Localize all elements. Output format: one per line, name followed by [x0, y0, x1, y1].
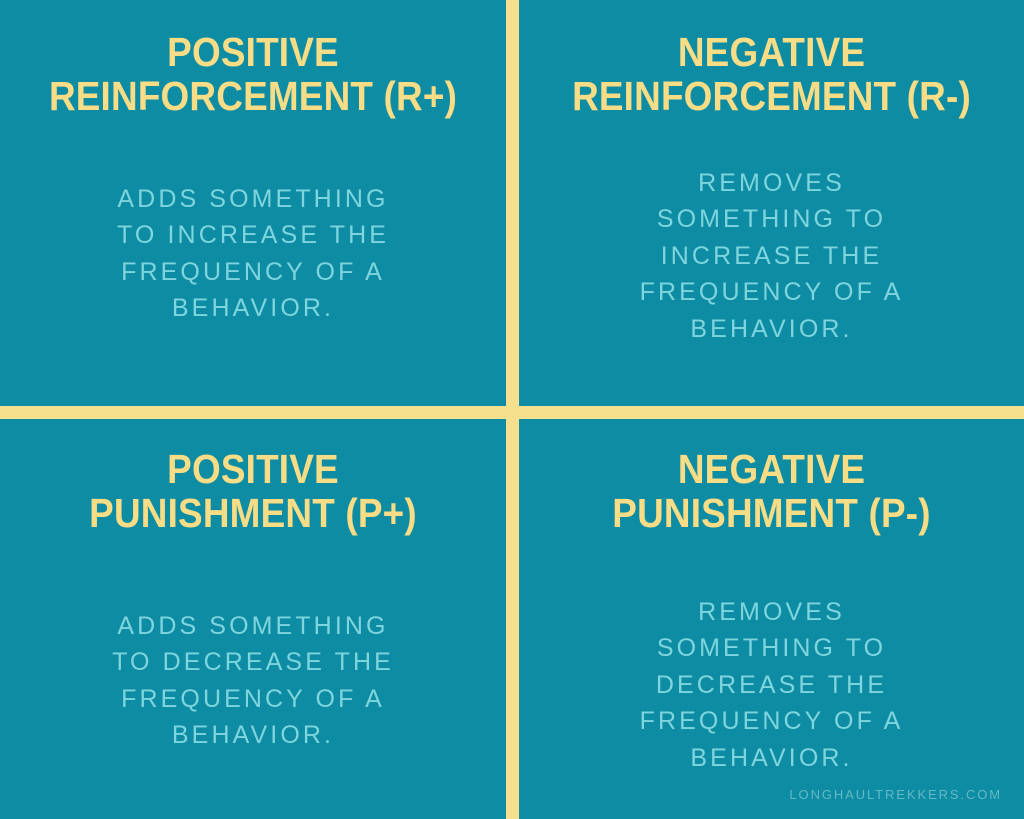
- quadrant-title-positive-reinforcement: POSITIVE REINFORCEMENT (R+): [25, 30, 480, 119]
- quadrant-grid: POSITIVE REINFORCEMENT (R+) ADDS SOMETHI…: [0, 0, 1024, 819]
- quadrant-description-negative-punishment: REMOVES SOMETHING TO DECREASE THE FREQUE…: [519, 594, 1024, 777]
- quadrant-positive-reinforcement: POSITIVE REINFORCEMENT (R+) ADDS SOMETHI…: [0, 0, 506, 406]
- horizontal-divider: [0, 406, 1024, 419]
- quadrant-negative-reinforcement: NEGATIVE REINFORCEMENT (R-) REMOVES SOME…: [519, 0, 1024, 406]
- quadrant-description-negative-reinforcement: REMOVES SOMETHING TO INCREASE THE FREQUE…: [519, 165, 1024, 348]
- quadrant-title-negative-reinforcement: NEGATIVE REINFORCEMENT (R-): [544, 30, 999, 119]
- quadrant-positive-punishment: POSITIVE PUNISHMENT (P+) ADDS SOMETHING …: [0, 419, 506, 819]
- quadrant-negative-punishment: NEGATIVE PUNISHMENT (P-) REMOVES SOMETHI…: [519, 419, 1024, 819]
- quadrant-description-positive-reinforcement: ADDS SOMETHING TO INCREASE THE FREQUENCY…: [0, 181, 506, 327]
- quadrant-title-positive-punishment: POSITIVE PUNISHMENT (P+): [25, 447, 480, 536]
- quadrant-title-negative-punishment: NEGATIVE PUNISHMENT (P-): [544, 447, 999, 536]
- watermark-source-url: LONGHAULTREKKERS.COM: [789, 787, 1002, 802]
- operant-conditioning-quadrant-infographic: POSITIVE REINFORCEMENT (R+) ADDS SOMETHI…: [0, 0, 1024, 819]
- quadrant-description-positive-punishment: ADDS SOMETHING TO DECREASE THE FREQUENCY…: [0, 608, 506, 754]
